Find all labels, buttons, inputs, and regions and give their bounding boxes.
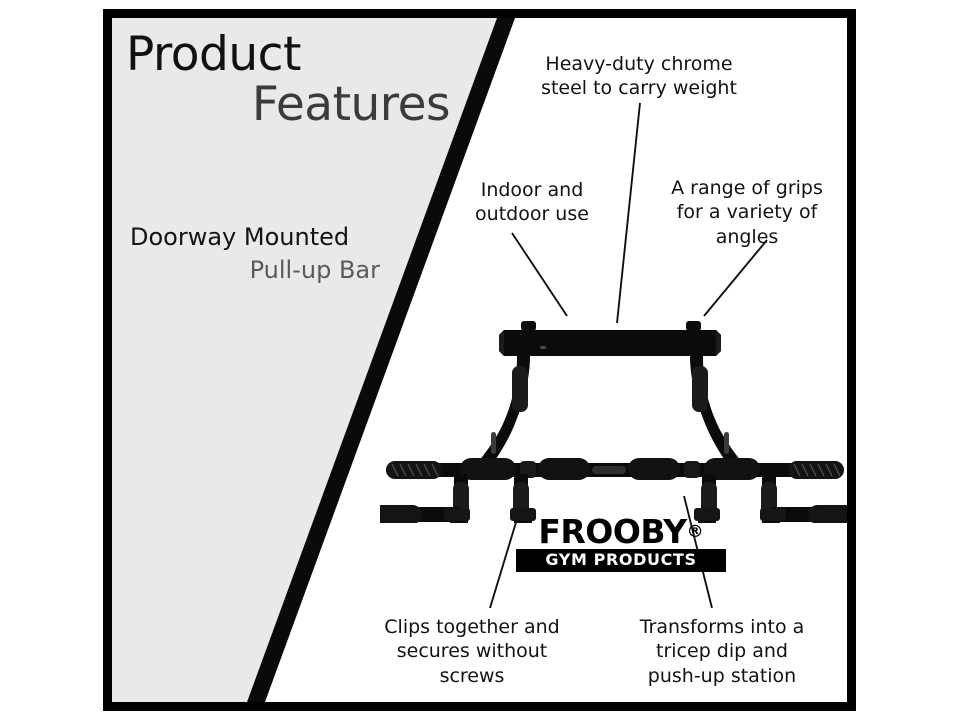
callout-clips-together: Clips together and secures without screw… <box>362 615 582 688</box>
callout-range-of-grips: A range of grips for a variety of angles <box>652 176 842 249</box>
product-features-infographic: Product Features Doorway Mounted Pull-up… <box>0 0 960 720</box>
leader-line-range-of-grips <box>704 240 767 316</box>
callout-indoor-outdoor: Indoor and outdoor use <box>442 178 622 227</box>
subtitle-line-pull-up-bar: Pull-up Bar <box>122 256 392 285</box>
title-line-features: Features <box>126 81 456 128</box>
callout-transforms: Transforms into a tricep dip and push-up… <box>612 615 832 688</box>
leader-line-indoor-outdoor <box>512 233 567 316</box>
brand-tagline: GYM PRODUCTS <box>516 552 726 568</box>
registered-trademark-icon: ® <box>687 522 704 542</box>
frame-inner-canvas: Product Features Doorway Mounted Pull-up… <box>112 18 847 702</box>
brand-logo: FROOBY® GYM PRODUCTS <box>516 515 726 572</box>
subtitle-line-doorway-mounted: Doorway Mounted <box>122 223 392 252</box>
product-image-pull-up-bar <box>380 308 847 523</box>
brand-tagline-bar: GYM PRODUCTS <box>516 549 726 572</box>
brand-wordmark: FROOBY® <box>516 515 726 548</box>
product-subtitle: Doorway Mounted Pull-up Bar <box>122 223 392 285</box>
brand-wordmark-text: FROOBY <box>538 512 686 551</box>
callout-chrome-steel: Heavy-duty chrome steel to carry weight <box>514 52 764 101</box>
title-line-product: Product <box>126 32 456 79</box>
bordered-content-frame: Product Features Doorway Mounted Pull-up… <box>103 9 856 711</box>
page-title: Product Features <box>126 32 456 128</box>
